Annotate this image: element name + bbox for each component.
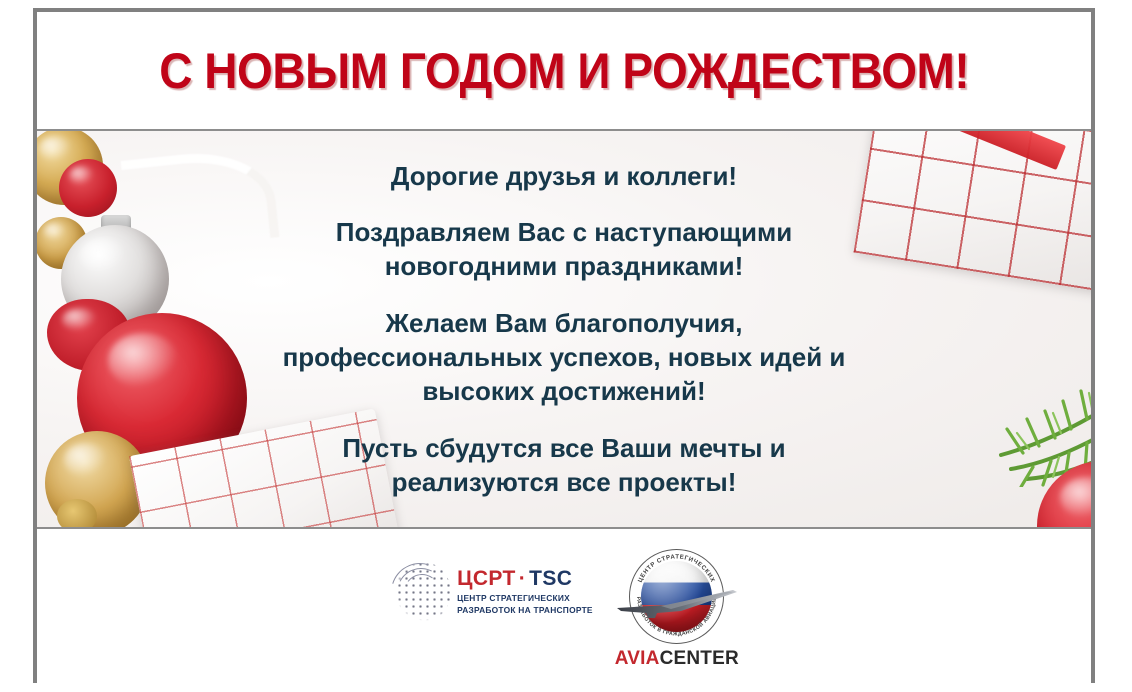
tsc-logo: ЦСРТ·TSC ЦЕНТР СТРАТЕГИЧЕСКИХ РАЗРАБОТОК… xyxy=(389,561,593,623)
pine-branch-icon xyxy=(993,337,1091,487)
tsc-subtitle: ЦЕНТР СТРАТЕГИЧЕСКИХ РАЗРАБОТОК НА ТРАНС… xyxy=(457,593,593,616)
aviacenter-logo: ЦЕНТР СТРАТЕГИЧЕСКИХ РАЗРАБОТОК В ГРАЖДА… xyxy=(615,549,739,670)
tsc-title-separator: · xyxy=(519,567,526,590)
aviacenter-emblem-icon: ЦЕНТР СТРАТЕГИЧЕСКИХ РАЗРАБОТОК В ГРАЖДА… xyxy=(629,549,724,644)
greeting-text-block: Дорогие друзья и коллеги! Поздравляем Ва… xyxy=(244,129,884,529)
svg-text:ЦЕНТР СТРАТЕГИЧЕСКИХ: ЦЕНТР СТРАТЕГИЧЕСКИХ xyxy=(637,553,717,583)
tsc-title-ru: ЦСРТ xyxy=(457,567,516,590)
pine-branch-svg xyxy=(993,337,1091,487)
dotted-globe-icon xyxy=(389,561,451,623)
tsc-subtitle-line-2: РАЗРАБОТОК НА ТРАНСПОРТЕ xyxy=(457,605,593,616)
airplane-silhouette-icon xyxy=(615,589,739,619)
greeting-line-3: Желаем Вам благополучия, профессиональны… xyxy=(283,306,846,409)
tsc-subtitle-line-1: ЦЕНТР СТРАТЕГИЧЕСКИХ xyxy=(457,593,593,604)
gold-bauble-cap-icon xyxy=(57,499,97,529)
headline-band: С НОВЫМ ГОДОМ И РОЖДЕСТВОМ! xyxy=(37,12,1091,129)
aviacenter-wordmark: AVIACENTER xyxy=(615,648,739,670)
small-red-bauble-icon xyxy=(59,159,117,217)
greeting-line-1: Дорогие друзья и коллеги! xyxy=(391,159,737,193)
greeting-line-4: Пусть сбудутся все Ваши мечты и реализую… xyxy=(342,431,785,500)
greeting-line-2: Поздравляем Вас с наступающими новогодни… xyxy=(336,215,792,284)
aviacenter-wordmark-avia: AVIA xyxy=(615,648,660,669)
tsc-wordmark: ЦСРТ·TSC ЦЕНТР СТРАТЕГИЧЕСКИХ РАЗРАБОТОК… xyxy=(457,568,593,616)
page-title: С НОВЫМ ГОДОМ И РОЖДЕСТВОМ! xyxy=(159,42,969,100)
greeting-card: С НОВЫМ ГОДОМ И РОЖДЕСТВОМ! xyxy=(33,8,1095,683)
tsc-title: ЦСРТ·TSC xyxy=(457,568,593,589)
aviacenter-wordmark-center: CENTER xyxy=(660,648,739,669)
tsc-title-en: TSC xyxy=(529,567,572,590)
emblem-text-top: ЦЕНТР СТРАТЕГИЧЕСКИХ xyxy=(637,553,717,583)
footer-logos: ЦСРТ·TSC ЦЕНТР СТРАТЕГИЧЕСКИХ РАЗРАБОТОК… xyxy=(37,533,1091,683)
